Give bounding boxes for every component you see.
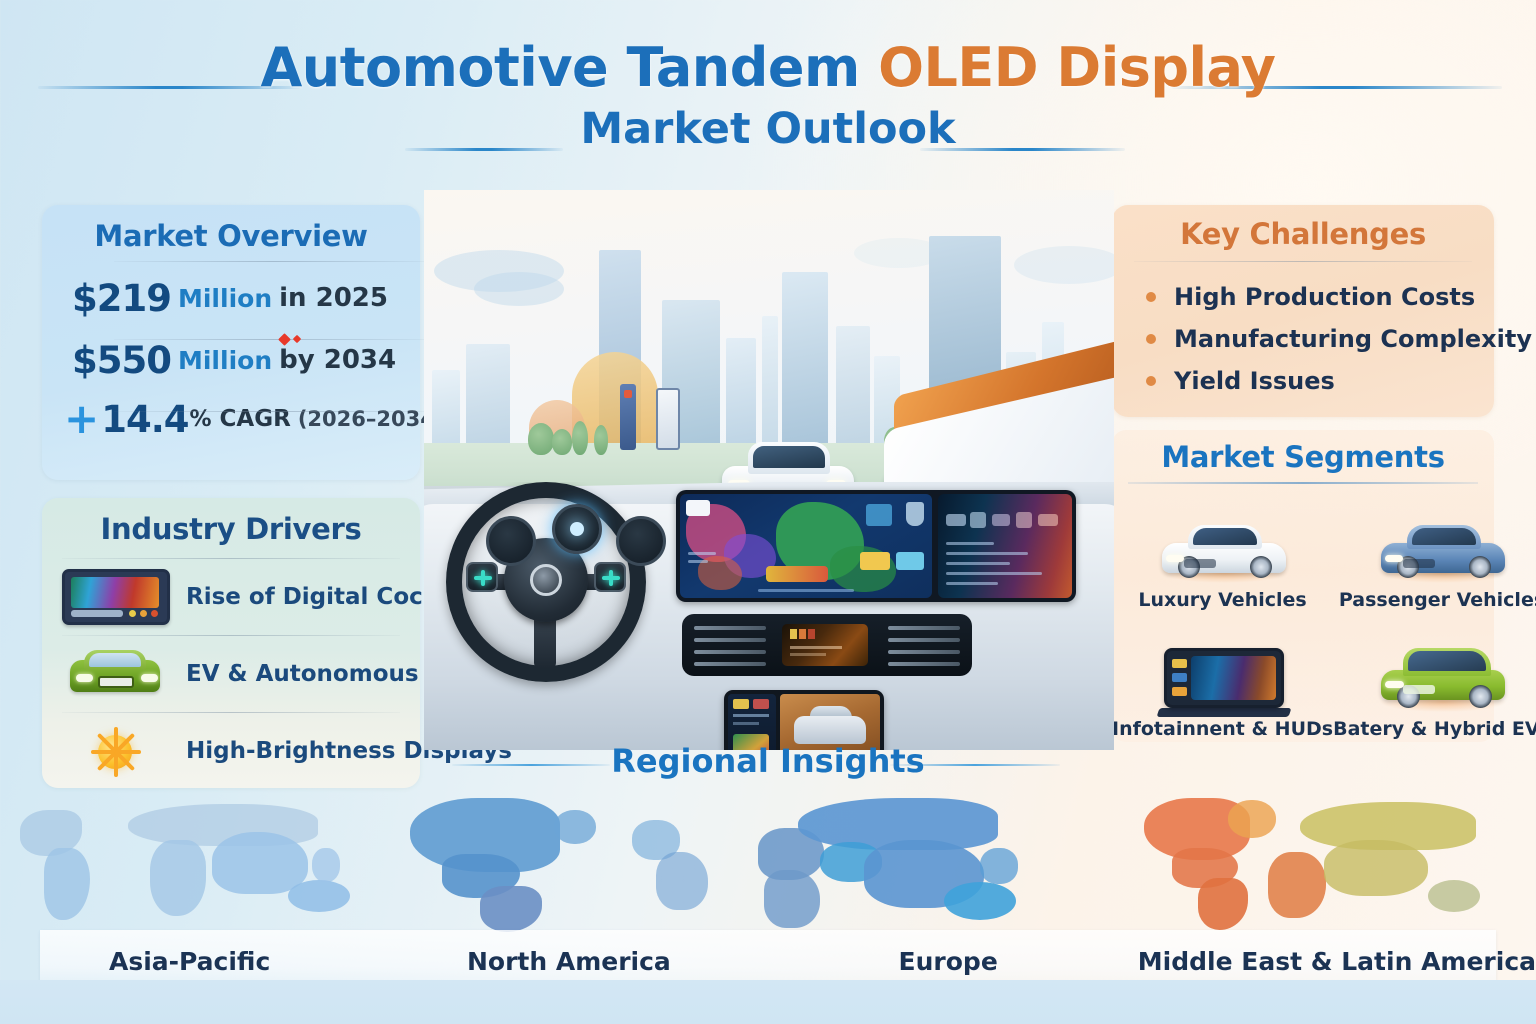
steering-wheel (446, 482, 646, 682)
bullet-icon (1146, 292, 1156, 302)
map-asia-pacific (0, 786, 384, 946)
driver-item-digital-cockpits: Rise of Digital Cockpits (42, 559, 420, 635)
market-segments-heading: Market Segments (1112, 430, 1494, 474)
digital-cockpit-icon (62, 569, 170, 625)
stat-row-cagr: + 14.4 % CAGR (2026–2034) (42, 391, 420, 447)
regional-maps-band (0, 786, 1536, 946)
segment-cell-luxury: Luxury Vehicles (1112, 484, 1333, 613)
market-overview-panel: Market Overview $219 Million in 2025 $55… (42, 205, 420, 480)
challenge-label: High Production Costs (1174, 283, 1475, 311)
segment-label-luxury: Luxury Vehicles (1138, 589, 1306, 611)
segment-cell-passenger: Passenger Vehicles (1333, 484, 1536, 613)
green-car-icon (62, 646, 170, 702)
gauge-center-icon (552, 504, 602, 554)
segment-label-battery-ev: Batery & Hybrid EVs (1333, 718, 1536, 740)
stat-value-2025: $219 (72, 277, 171, 320)
regional-insights-heading: Regional Insights (0, 742, 1536, 780)
overview-divider-3 (114, 411, 432, 412)
green-hatchback-icon (1367, 636, 1517, 714)
industry-drivers-heading: Industry Drivers (42, 498, 420, 546)
market-segments-grid: Luxury Vehicles Passenger Vehicles (1112, 484, 1494, 742)
gauge-right-icon (616, 516, 666, 566)
dashboard (424, 482, 1114, 750)
bullet-icon (1146, 334, 1156, 344)
market-overview-heading: Market Overview (42, 205, 420, 253)
white-sedan-icon (1148, 507, 1298, 585)
instrument-cluster-screen (938, 494, 1072, 598)
page-title: Automotive Tandem OLED Display Market Ou… (0, 38, 1536, 154)
navigation-map-screen (680, 494, 932, 598)
stat-row-2025: $219 Million in 2025 (42, 267, 420, 329)
challenge-item: Manufacturing Complexity (1146, 318, 1494, 360)
gauge-left-icon (486, 516, 536, 566)
center-console-screen (724, 690, 884, 750)
page-subtitle: Market Outlook (0, 104, 1536, 154)
market-segments-panel: Market Segments Luxury Vehicles (1112, 430, 1494, 742)
bottom-background-fill (0, 980, 1536, 1024)
climate-mini-screen (782, 624, 868, 666)
overview-divider-1 (114, 261, 432, 262)
stat-value-2034: $550 (72, 339, 171, 382)
map-europe (768, 786, 1152, 946)
stat-period-2025: in 2025 (279, 283, 388, 313)
blue-sedan-icon (1367, 507, 1517, 585)
segment-label-infotainment: Infotainnent & HUDs (1112, 718, 1333, 740)
segment-cell-battery-ev: Batery & Hybrid EVs (1333, 613, 1536, 742)
driver-item-ev-autonomous: EV & Autonomous Growth (42, 636, 420, 712)
map-north-america (384, 786, 768, 946)
air-vents (682, 614, 972, 676)
hero-cockpit-image (424, 190, 1114, 750)
title-highlight: OLED Display (878, 36, 1275, 99)
challenge-item: High Production Costs (1146, 276, 1494, 318)
stat-period-2034: by 2034 (279, 345, 396, 375)
segment-label-passenger: Passenger Vehicles (1339, 589, 1536, 611)
stat-unit-2034: Million (178, 346, 272, 375)
challenge-label: Manufacturing Complexity (1174, 325, 1532, 353)
challenge-label: Yield Issues (1174, 367, 1335, 395)
challenge-item: Yield Issues (1146, 360, 1494, 402)
bullet-icon (1146, 376, 1156, 386)
cagr-label: CAGR (220, 406, 291, 432)
tablet-display-icon (1148, 636, 1298, 714)
plus-icon: + (64, 402, 99, 436)
tandem-oled-display (676, 490, 1076, 602)
map-middle-east-latin-america (1152, 786, 1536, 946)
cagr-value: 14.4 (101, 398, 188, 441)
stat-unit-2025: Million (178, 284, 272, 313)
key-challenges-heading: Key Challenges (1112, 205, 1494, 251)
segment-cell-infotainment: Infotainnent & HUDs (1112, 613, 1333, 742)
overview-divider-2 (114, 339, 432, 340)
title-primary: Automotive Tandem (260, 36, 878, 99)
key-challenges-list: High Production Costs Manufacturing Comp… (1112, 262, 1494, 402)
infographic-root: Automotive Tandem OLED Display Market Ou… (0, 0, 1536, 1024)
key-challenges-panel: Key Challenges High Production Costs Man… (1112, 205, 1494, 417)
